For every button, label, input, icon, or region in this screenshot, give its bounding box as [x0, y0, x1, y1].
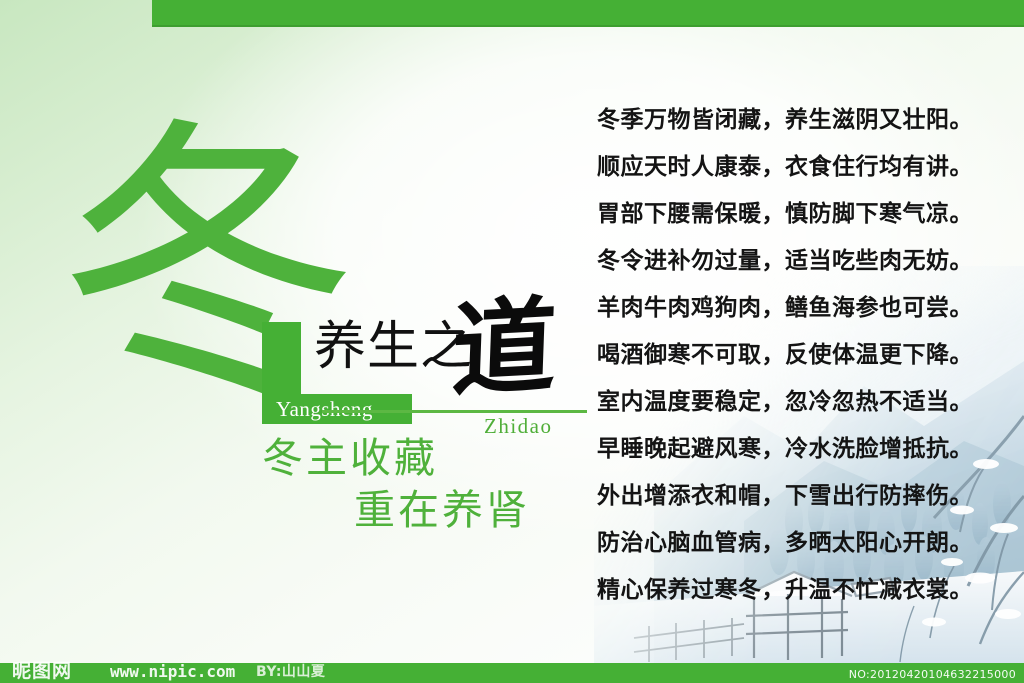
poem-line: 室内温度要稳定，忽冷忽热不适当。 — [597, 378, 997, 425]
poem-line: 顺应天时人康泰，衣食住行均有讲。 — [597, 143, 997, 190]
poem-line: 冬令进补勿过量，适当吃些肉无妨。 — [597, 237, 997, 284]
yangsheng-zhidao-logo: 养生之 道 Yangsheng Zhidao — [262, 318, 592, 448]
logo-hanzi-dao: 道 — [450, 293, 558, 402]
slogan-line-1: 冬主收藏 — [262, 432, 592, 484]
poster-canvas: 冬 养生之 道 Yangsheng Zhidao 冬主收藏 重在养肾 冬季万物皆… — [0, 0, 1024, 683]
slogan-line-2: 重在养肾 — [354, 484, 592, 536]
poem-line: 早睡晚起避风寒，冷水洗脸增抵抗。 — [597, 425, 997, 472]
poem-line: 外出增添衣和帽，下雪出行防摔伤。 — [597, 472, 997, 519]
watermark-url[interactable]: www.nipic.com — [110, 664, 235, 680]
poem-line: 羊肉牛肉鸡狗肉，鳝鱼海参也可尝。 — [597, 284, 997, 331]
watermark-author: BY:山山夏 — [256, 665, 325, 679]
poem-line: 冬季万物皆闭藏，养生滋阴又壮阳。 — [597, 96, 997, 143]
top-green-bar-shadow — [152, 25, 1024, 27]
logo-hanzi-prefix: 养生之 — [314, 320, 473, 374]
health-tips-poem: 冬季万物皆闭藏，养生滋阴又壮阳。 顺应天时人康泰，衣食住行均有讲。 胃部下腰需保… — [597, 96, 997, 613]
watermark-site-name: 昵图网 — [12, 662, 72, 681]
poem-line: 精心保养过寒冬，升温不忙减衣裳。 — [597, 566, 997, 613]
poem-line: 胃部下腰需保暖，慎防脚下寒气凉。 — [597, 190, 997, 237]
slogan-block: 冬主收藏 重在养肾 — [262, 432, 592, 536]
poem-line: 防治心脑血管病，多晒太阳心开朗。 — [597, 519, 997, 566]
watermark-id-number: NO:20120420104632215000 — [849, 669, 1016, 680]
logo-underline — [322, 410, 587, 413]
top-green-bar — [152, 0, 1024, 27]
poem-line: 喝酒御寒不可取，反使体温更下降。 — [597, 331, 997, 378]
